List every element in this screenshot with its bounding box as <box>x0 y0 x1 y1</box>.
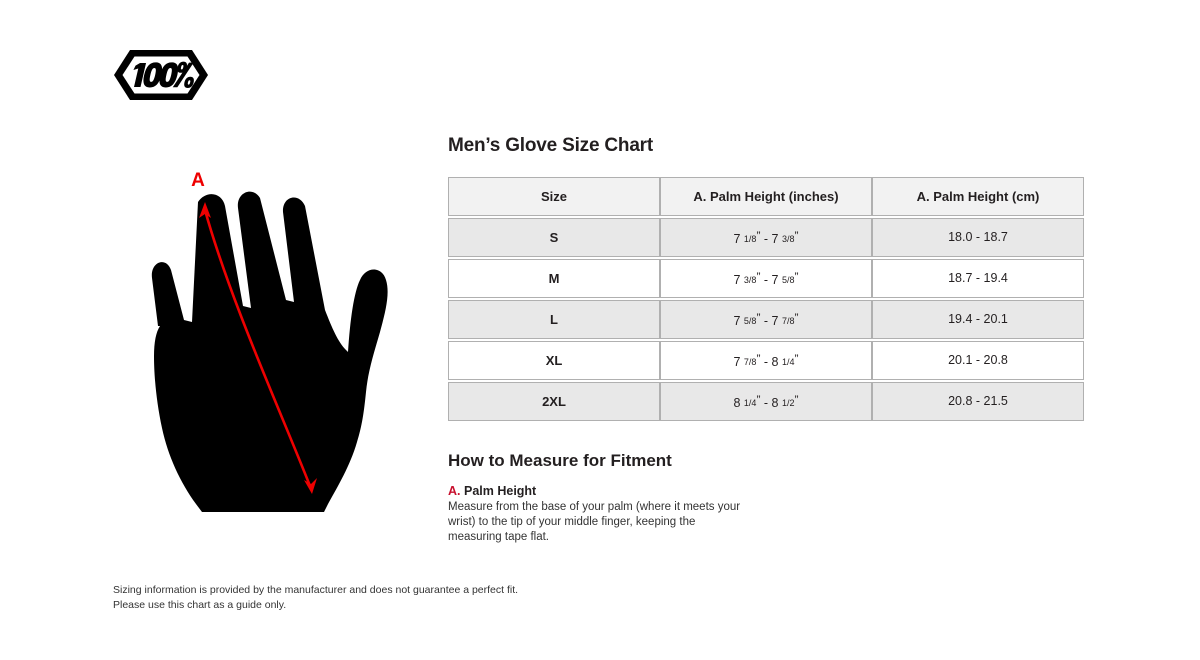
cell-palm-cm: 19.4 - 20.1 <box>872 300 1084 339</box>
table-header-row: Size A. Palm Height (inches) A. Palm Hei… <box>448 177 1084 216</box>
cell-size: M <box>448 259 660 298</box>
hundred-percent-logo <box>114 48 208 102</box>
measure-item-description: Measure from the base of your palm (wher… <box>448 500 748 546</box>
cell-palm-cm: 20.1 - 20.8 <box>872 341 1084 380</box>
measure-item-label: A. Palm Height <box>448 484 1088 498</box>
cell-size: S <box>448 218 660 257</box>
table-row: M 7 3/8” - 7 5/8” 18.7 - 19.4 <box>448 259 1084 298</box>
measure-item-letter: A. <box>448 484 461 498</box>
cell-palm-cm: 20.8 - 21.5 <box>872 382 1084 421</box>
cell-palm-cm: 18.7 - 19.4 <box>872 259 1084 298</box>
how-to-measure-section: How to Measure for Fitment A. Palm Heigh… <box>448 451 1088 546</box>
callout-label-a: A <box>191 170 205 191</box>
disclaimer-line-1: Sizing information is provided by the ma… <box>113 583 518 598</box>
how-to-measure-title: How to Measure for Fitment <box>448 451 1088 471</box>
cell-palm-inches: 7 7/8” - 8 1/4” <box>660 341 872 380</box>
table-row: L 7 5/8” - 7 7/8” 19.4 - 20.1 <box>448 300 1084 339</box>
table-row: 2XL 8 1/4” - 8 1/2” 20.8 - 21.5 <box>448 382 1084 421</box>
cell-palm-inches: 7 3/8” - 7 5/8” <box>660 259 872 298</box>
cell-size: L <box>448 300 660 339</box>
disclaimer: Sizing information is provided by the ma… <box>113 583 518 613</box>
cell-palm-inches: 7 5/8” - 7 7/8” <box>660 300 872 339</box>
cell-size: 2XL <box>448 382 660 421</box>
hand-silhouette <box>152 192 388 512</box>
table-row: S 7 1/8” - 7 3/8” 18.0 - 18.7 <box>448 218 1084 257</box>
cell-palm-inches: 7 1/8” - 7 3/8” <box>660 218 872 257</box>
column-header-palm-inches: A. Palm Height (inches) <box>660 177 872 216</box>
size-chart-table: Size A. Palm Height (inches) A. Palm Hei… <box>448 175 1084 423</box>
hand-measurement-illustration: A <box>110 160 430 530</box>
cell-palm-inches: 8 1/4” - 8 1/2” <box>660 382 872 421</box>
cell-palm-cm: 18.0 - 18.7 <box>872 218 1084 257</box>
disclaimer-line-2: Please use this chart as a guide only. <box>113 598 518 613</box>
table-row: XL 7 7/8” - 8 1/4” 20.1 - 20.8 <box>448 341 1084 380</box>
page-title: Men’s Glove Size Chart <box>448 136 1088 157</box>
measure-item-name: Palm Height <box>464 484 536 498</box>
column-header-palm-cm: A. Palm Height (cm) <box>872 177 1084 216</box>
cell-size: XL <box>448 341 660 380</box>
column-header-size: Size <box>448 177 660 216</box>
chart-content: Men’s Glove Size Chart Size A. Palm Heig… <box>448 136 1088 545</box>
